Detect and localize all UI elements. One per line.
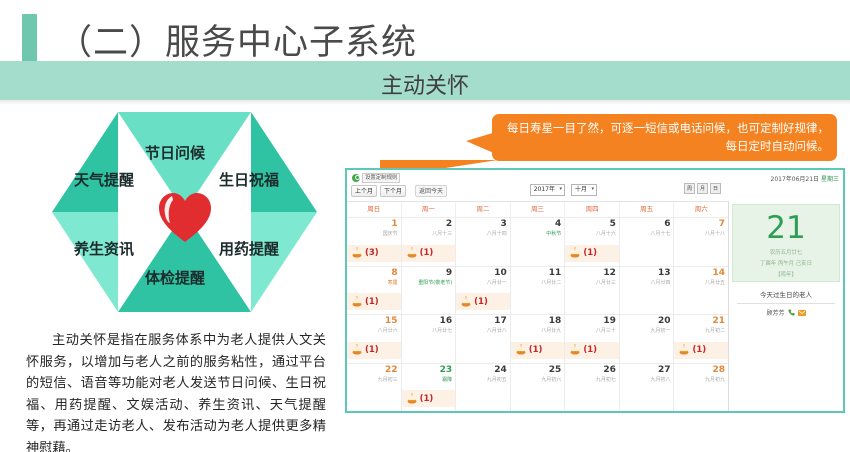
- hex-label-weather-reminder: 天气提醒: [74, 169, 134, 190]
- today-card: 21 农历五月廿七 丁酉年 丙午月 己亥日 【鸡年】: [732, 204, 840, 282]
- calendar-day-cell[interactable]: 17八月廿八: [456, 315, 511, 363]
- month-nav-group: 上个月 下个月 返回今天: [351, 185, 447, 197]
- day-lunar-label: 八月十四: [487, 230, 507, 237]
- day-number: 13: [658, 268, 671, 278]
- month-select[interactable]: 十月: [571, 184, 597, 196]
- birthday-cake-icon: [351, 344, 363, 356]
- day-lunar-label: 九月初一: [650, 327, 670, 334]
- day-lunar-label: 八月十三: [432, 230, 452, 237]
- hex-label-health-info: 养生资讯: [74, 238, 134, 259]
- day-birthday-event[interactable]: (3): [347, 245, 401, 262]
- birthday-cake-icon: [569, 344, 581, 356]
- day-birthday-count: (1): [420, 248, 434, 258]
- slide-page: （二）服务中心子系统 主动关怀 节日问候 生日祝福 用药提醒 体检提醒 养生资讯…: [0, 0, 850, 452]
- birthday-list-title: 今天过生日的老人: [729, 289, 843, 299]
- calendar-day-cell[interactable]: 11八月廿二: [511, 267, 566, 315]
- day-lunar-label: 八月廿三: [596, 279, 616, 286]
- day-lunar-label: 八月十七: [650, 230, 670, 237]
- weekday-mon: 周一: [402, 202, 457, 217]
- day-number: 21: [713, 316, 726, 326]
- view-toggle-month[interactable]: 月: [697, 183, 708, 194]
- calendar-grid: 周日 周一 周二 周三 周四 周五 周六 1国庆节(3)2八月十三(1)3八月十…: [347, 201, 728, 411]
- back-today-button[interactable]: 返回今天: [415, 185, 447, 197]
- day-lunar-label: 九月初三: [378, 376, 398, 383]
- sms-icon[interactable]: [798, 310, 806, 316]
- day-lunar-label: 八月廿九: [541, 327, 561, 334]
- weekday-tue: 周二: [456, 202, 511, 217]
- heart-icon: [156, 190, 214, 244]
- calendar-day-cell[interactable]: 16八月廿七: [402, 315, 457, 363]
- day-birthday-count: (1): [583, 248, 597, 258]
- day-number: 8: [391, 268, 397, 278]
- day-lunar-label: 九月初七: [596, 376, 616, 383]
- calendar-day-cell[interactable]: 24九月初五: [456, 364, 511, 412]
- day-birthday-event[interactable]: (1): [511, 342, 565, 359]
- calendar-week-row: 8寒露(1)9重阳节(敬老节)10八月廿一(1)11八月廿二12八月廿三13八月…: [347, 266, 728, 315]
- day-lunar-label: 八月廿五: [705, 279, 725, 286]
- day-lunar-label: 中秋节: [546, 230, 561, 237]
- day-number: 6: [664, 219, 670, 229]
- phone-icon[interactable]: [788, 309, 795, 316]
- calendar-week-row: 22九月初三23霜降(1)24九月初五25九月初六26九月初七27九月初八28九…: [347, 363, 728, 412]
- view-toggle-day[interactable]: 日: [710, 183, 721, 194]
- day-birthday-event[interactable]: (1): [456, 293, 510, 310]
- calendar-day-cell[interactable]: 15八月廿六(1): [347, 315, 402, 363]
- calendar-body: 周日 周一 周二 周三 周四 周五 周六 1国庆节(3)2八月十三(1)3八月十…: [347, 201, 843, 411]
- birthday-cake-icon: [351, 296, 363, 308]
- day-lunar-label: 九月初八: [650, 376, 670, 383]
- day-number: 1: [391, 219, 397, 229]
- day-lunar-label: 八月廿四: [650, 279, 670, 286]
- day-lunar-label: 霜降: [442, 376, 452, 383]
- day-lunar-label: 九月初五: [487, 376, 507, 383]
- callout-text: 每日寿星一目了然，可逐一短信或电话问候，也可定制好规律，每日定时自动问候。: [500, 119, 829, 155]
- weekday-thu: 周四: [565, 202, 620, 217]
- calendar-day-cell[interactable]: 20九月初一: [620, 315, 675, 363]
- day-birthday-event[interactable]: (1): [565, 342, 619, 359]
- day-lunar-label: 九月初二: [705, 327, 725, 334]
- day-lunar-label: 重阳节(敬老节): [418, 279, 452, 286]
- day-birthday-count: (1): [583, 345, 597, 355]
- hex-label-holiday-greeting: 节日问候: [145, 142, 205, 163]
- day-number: 22: [385, 365, 398, 375]
- weekday-fri: 周五: [620, 202, 675, 217]
- year-select[interactable]: 2017年: [530, 184, 565, 196]
- day-lunar-label: 寒露: [388, 279, 398, 286]
- day-lunar-label: 九月初六: [541, 376, 561, 383]
- calendar-day-cell[interactable]: 19八月三十(1): [565, 315, 620, 363]
- day-number: 20: [658, 316, 671, 326]
- calendar-day-cell[interactable]: 28九月初九: [674, 364, 728, 412]
- page-title: （二）服务中心子系统: [57, 14, 417, 65]
- day-birthday-event[interactable]: (1): [565, 245, 619, 262]
- day-lunar-label: 八月廿七: [432, 327, 452, 334]
- day-number: 24: [494, 365, 507, 375]
- description-paragraph: 主动关怀是指在服务体系中为老人提供人文关怀服务，以增加与老人之前的服务粘性，通过…: [26, 330, 326, 452]
- day-number: 19: [603, 316, 616, 326]
- calendar-day-cell[interactable]: 5八月十六(1): [565, 218, 620, 266]
- day-number: 18: [549, 316, 562, 326]
- calendar-day-cell[interactable]: 3八月十四: [456, 218, 511, 266]
- day-number: 27: [658, 365, 671, 375]
- birthday-cake-icon: [406, 247, 418, 259]
- subtitle-text: 主动关怀: [0, 68, 850, 100]
- birthday-cake-icon: [406, 393, 418, 405]
- day-lunar-label: 八月十六: [596, 230, 616, 237]
- day-number: 17: [494, 316, 507, 326]
- next-month-button[interactable]: 下个月: [380, 185, 406, 197]
- birthday-cake-icon: [569, 247, 581, 259]
- day-birthday-event[interactable]: (1): [347, 293, 401, 310]
- day-number: 2: [446, 219, 452, 229]
- hex-segment-top-right: [251, 112, 317, 212]
- view-toggle-group: 周 月 日: [684, 183, 721, 194]
- prev-month-button[interactable]: 上个月: [351, 185, 377, 197]
- day-birthday-count: (1): [474, 297, 488, 307]
- birthday-cake-icon: [515, 344, 527, 356]
- calendar-day-cell[interactable]: 22九月初三: [347, 364, 402, 412]
- calendar-day-cell[interactable]: 9重阳节(敬老节): [402, 267, 457, 315]
- day-birthday-count: (1): [692, 345, 706, 355]
- calendar-week-row: 1国庆节(3)2八月十三(1)3八月十四4中秋节5八月十六(1)6八月十七7八月…: [347, 217, 728, 266]
- calendar-day-cell[interactable]: 6八月十七: [620, 218, 675, 266]
- callout-box: 每日寿星一目了然，可逐一短信或电话问候，也可定制好规律，每日定时自动问候。: [492, 114, 837, 161]
- day-birthday-event[interactable]: (1): [347, 342, 401, 359]
- hex-segment-bottom-left: [52, 212, 118, 312]
- day-lunar-label: 八月廿六: [378, 327, 398, 334]
- calendar-day-cell[interactable]: 1国庆节(3): [347, 218, 402, 266]
- config-rule-label: 设置定制规则: [362, 173, 400, 183]
- day-birthday-event[interactable]: (1): [402, 390, 456, 407]
- day-number: 10: [494, 268, 507, 278]
- day-lunar-label: 八月三十: [596, 327, 616, 334]
- day-birthday-event[interactable]: (1): [674, 342, 728, 359]
- day-number: 25: [549, 365, 562, 375]
- day-number: 9: [446, 268, 452, 278]
- calendar-day-cell[interactable]: 12八月廿三: [565, 267, 620, 315]
- view-toggle-week[interactable]: 周: [684, 183, 695, 194]
- today-lunar-line3: 【鸡年】: [733, 270, 839, 278]
- calendar-day-cell[interactable]: 25九月初六: [511, 364, 566, 412]
- day-number: 12: [603, 268, 616, 278]
- side-divider: [737, 303, 835, 304]
- day-number: 15: [385, 316, 398, 326]
- day-birthday-count: (3): [365, 248, 379, 258]
- hex-label-birthday-wish: 生日祝福: [219, 169, 279, 190]
- header-divider: [0, 100, 850, 105]
- calendar-day-cell[interactable]: 7八月十八: [674, 218, 728, 266]
- calendar-day-cell[interactable]: 4中秋节: [511, 218, 566, 266]
- hex-label-medication-reminder: 用药提醒: [219, 238, 279, 259]
- hex-segment-top-left: [52, 112, 118, 212]
- day-birthday-count: (1): [420, 394, 434, 404]
- calendar-toolbar: 设置定制规则 上个月 下个月 返回今天 2017年 十月 周 月 日 2017年…: [347, 170, 843, 201]
- birthday-cake-icon: [351, 247, 363, 259]
- calendar-day-cell[interactable]: 21九月初二(1): [674, 315, 728, 363]
- day-lunar-label: 八月廿八: [487, 327, 507, 334]
- today-lunar-line2: 丁酉年 丙午月 己亥日: [733, 259, 839, 267]
- day-number: 16: [440, 316, 453, 326]
- hex-label-checkup-reminder: 体检提醒: [145, 267, 205, 288]
- header-accent-bar: [22, 14, 37, 66]
- day-birthday-count: (1): [529, 345, 543, 355]
- calendar-day-cell[interactable]: 26九月初七: [565, 364, 620, 412]
- day-birthday-count: (1): [365, 297, 379, 307]
- day-birthday-count: (1): [365, 345, 379, 355]
- birthday-person-row[interactable]: 顾芳芳: [729, 308, 843, 317]
- day-lunar-label: 八月廿一: [487, 279, 507, 286]
- day-lunar-label: 八月十八: [705, 230, 725, 237]
- calendar-week-row: 15八月廿六(1)16八月廿七17八月廿八18八月廿九(1)19八月三十(1)2…: [347, 314, 728, 363]
- birthday-cake-icon: [678, 344, 690, 356]
- plus-circle-icon: [352, 174, 360, 182]
- day-number: 11: [549, 268, 562, 278]
- calendar-side-panel: 21 农历五月廿七 丁酉年 丙午月 己亥日 【鸡年】 今天过生日的老人 顾芳芳: [728, 201, 843, 411]
- calendar-day-cell[interactable]: 2八月十三(1): [402, 218, 457, 266]
- calendar-day-cell[interactable]: 8寒露(1): [347, 267, 402, 315]
- birthday-cake-icon: [460, 296, 472, 308]
- calendar-day-cell[interactable]: 10八月廿一(1): [456, 267, 511, 315]
- calendar-day-cell[interactable]: 27九月初八: [620, 364, 675, 412]
- weekday-sat: 周六: [674, 202, 728, 217]
- day-number: 4: [555, 219, 561, 229]
- hexagon-diagram: 节日问候 生日祝福 用药提醒 体检提醒 养生资讯 天气提醒: [52, 112, 317, 312]
- day-number: 28: [713, 365, 726, 375]
- day-number: 14: [713, 268, 726, 278]
- calendar-day-cell[interactable]: 23霜降(1): [402, 364, 457, 412]
- calendar-app: 设置定制规则 上个月 下个月 返回今天 2017年 十月 周 月 日 2017年…: [345, 168, 845, 413]
- calendar-day-cell[interactable]: 14八月廿五: [674, 267, 728, 315]
- weekday-wed: 周三: [511, 202, 566, 217]
- day-birthday-event[interactable]: (1): [402, 245, 456, 262]
- config-rule-link[interactable]: 设置定制规则: [352, 173, 400, 183]
- day-number: 26: [603, 365, 616, 375]
- day-lunar-label: 九月初九: [705, 376, 725, 383]
- day-number: 7: [719, 219, 725, 229]
- weekday-sun: 周日: [347, 202, 402, 217]
- calendar-day-cell[interactable]: 18八月廿九(1): [511, 315, 566, 363]
- calendar-weekday-header: 周日 周一 周二 周三 周四 周五 周六: [347, 202, 728, 217]
- day-lunar-label: 国庆节: [383, 230, 398, 237]
- today-weekday: 星期三: [821, 176, 839, 183]
- day-number: 5: [610, 219, 616, 229]
- day-number: 3: [500, 219, 506, 229]
- date-select-group: 2017年 十月: [530, 184, 597, 196]
- day-number: 23: [440, 365, 453, 375]
- today-big-number: 21: [733, 205, 839, 248]
- calendar-day-cell[interactable]: 13八月廿四: [620, 267, 675, 315]
- birthday-person-name: 顾芳芳: [766, 308, 784, 317]
- day-lunar-label: 八月廿二: [541, 279, 561, 286]
- hex-segment-bottom-right: [251, 212, 317, 312]
- today-indicator: 2017年06月21日 星期三: [771, 174, 839, 183]
- today-lunar-line1: 农历五月廿七: [733, 248, 839, 256]
- today-date: 2017年06月21日: [771, 176, 820, 183]
